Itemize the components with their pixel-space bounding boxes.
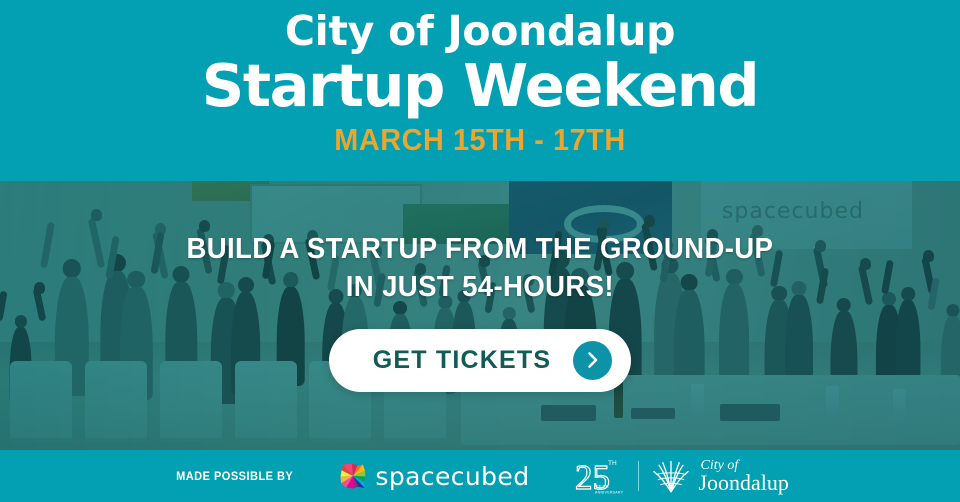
sponsor-spacecubed[interactable]: spacecubed — [340, 462, 529, 491]
hero-content: BUILD A STARTUP FROM THE GROUND-UP IN JU… — [0, 181, 960, 450]
hero-tagline-line-2: IN JUST 54-HOURS! — [346, 271, 614, 303]
sponsor-city-of-joondalup[interactable]: City of Joondalup — [652, 459, 788, 494]
hero-tagline: BUILD A STARTUP FROM THE GROUND-UP IN JU… — [187, 230, 774, 307]
event-promo-banner: City of Joondalup Startup Weekend MARCH … — [0, 0, 960, 502]
joondalup-wordmark: City of Joondalup — [698, 459, 788, 494]
made-possible-by-label: MADE POSSIBLE BY — [176, 469, 293, 483]
banner-footer: MADE POSSIBLE BY — [0, 450, 960, 502]
spacecubed-pinwheel-icon — [340, 463, 366, 489]
joondalup-fan-crest-icon — [652, 459, 690, 493]
presenter-title: City of Joondalup — [0, 9, 960, 55]
get-tickets-label: GET TICKETS — [373, 346, 551, 375]
event-dates: MARCH 15TH - 17TH — [34, 122, 927, 158]
joondalup-wordmark-line-2: Joondalup — [698, 472, 788, 494]
spacecubed-wordmark: spacecubed — [375, 462, 529, 491]
svg-text:YEAR: YEAR — [595, 484, 610, 489]
chevron-right-icon — [573, 341, 612, 380]
svg-text:TH: TH — [608, 460, 617, 467]
anniversary-25-icon: 25 TH YEAR ANNIVERSARY — [575, 456, 625, 496]
sponsor-anniversary-25[interactable]: 25 TH YEAR ANNIVERSARY — [575, 456, 625, 496]
hero-photo: spacecubed — [0, 181, 960, 450]
sponsor-strip: MADE POSSIBLE BY — [171, 456, 789, 496]
event-title: Startup Weekend — [0, 53, 960, 119]
banner-header: City of Joondalup Startup Weekend MARCH … — [0, 0, 960, 181]
svg-text:ANNIVERSARY: ANNIVERSARY — [595, 491, 624, 495]
get-tickets-button[interactable]: GET TICKETS — [329, 329, 631, 392]
sponsor-divider — [638, 461, 639, 491]
hero-tagline-line-1: BUILD A STARTUP FROM THE GROUND-UP — [187, 233, 774, 265]
